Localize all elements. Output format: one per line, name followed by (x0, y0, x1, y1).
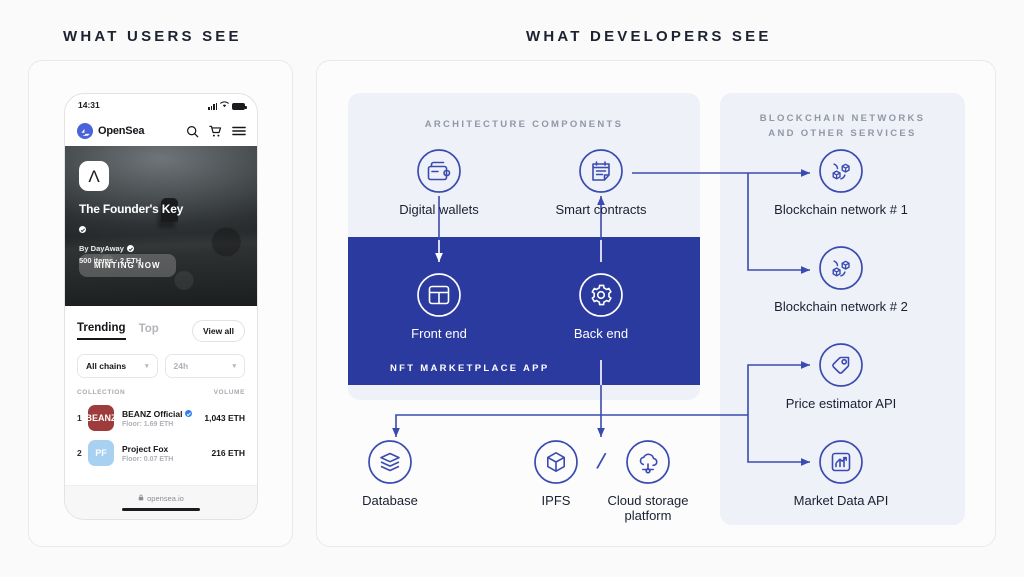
navbar-actions (186, 125, 246, 138)
cube-icon (533, 439, 579, 485)
chain-filter-select[interactable]: All chains ▾ (77, 354, 158, 378)
phone-footer: opensea.io (65, 485, 257, 519)
tabs-row: Trending Top View all (77, 306, 245, 342)
blockchain-panel-title: BLOCKCHAIN NETWORKS AND OTHER SERVICES (720, 111, 965, 141)
node-digital-wallets[interactable]: Digital wallets (374, 148, 504, 217)
verified-check-icon (79, 220, 183, 238)
section-title-developers: WHAT DEVELOPERS SEE (526, 28, 772, 45)
hero-banner: Λ The Founder's Key By DayAway 500 items… (65, 146, 257, 306)
node-label: Front end (411, 326, 467, 341)
minting-now-button[interactable]: MINTING NOW (79, 254, 176, 277)
nft-marketplace-label: NFT MARKETPLACE APP (390, 363, 549, 374)
node-label: Digital wallets (399, 202, 478, 217)
tab-trending[interactable]: Trending (77, 322, 126, 340)
collection-volume: 216 ETH (211, 448, 245, 458)
node-label: Price estimator API (786, 396, 897, 411)
node-front-end[interactable]: Front end (374, 272, 504, 341)
node-smart-contracts[interactable]: Smart contracts (536, 148, 666, 217)
view-all-button[interactable]: View all (192, 320, 245, 342)
home-indicator (122, 508, 200, 511)
opensea-content: Trending Top View all All chains ▾ 24h ▾… (65, 306, 257, 485)
collection-thumbnail: BEANZ (88, 405, 114, 431)
node-label: Blockchain network # 2 (774, 299, 908, 314)
blockchain-network-icon (818, 245, 864, 291)
price-tag-icon (818, 342, 864, 388)
node-label: IPFS (542, 493, 571, 508)
url-text: opensea.io (147, 494, 184, 503)
hero-creator: By DayAway (79, 244, 183, 253)
database-stack-icon (367, 439, 413, 485)
node-blockchain-network-2[interactable]: Blockchain network # 2 (746, 245, 936, 314)
node-label: Back end (574, 326, 628, 341)
collection-name: Project Fox (122, 444, 168, 454)
status-icons (208, 101, 245, 110)
node-label: Market Data API (794, 493, 889, 508)
node-label: Smart contracts (555, 202, 646, 217)
row-info: BEANZ Official Floor: 1.69 ETH (122, 409, 192, 428)
time-filter-value: 24h (174, 361, 189, 371)
table-row[interactable]: 2 PF Project Fox Floor: 0.07 ETH 216 ETH (77, 440, 245, 466)
table-header: COLLECTION VOLUME (77, 389, 245, 396)
chevron-down-icon: ▾ (145, 362, 149, 370)
column-collection: COLLECTION (77, 389, 125, 396)
signal-bars-icon (208, 103, 217, 110)
hamburger-menu-icon[interactable] (232, 125, 246, 137)
phone-status-bar: 14:31 (65, 94, 257, 116)
hero-creator-label: By DayAway (79, 244, 124, 253)
opensea-navbar: OpenSea (65, 116, 257, 146)
node-label: Blockchain network # 1 (774, 202, 908, 217)
contract-document-icon (578, 148, 624, 194)
diagram-page: WHAT USERS SEE WHAT DEVELOPERS SEE 14:31… (0, 0, 1024, 577)
collection-floor: Floor: 0.07 ETH (122, 456, 173, 463)
opensea-brand-label: OpenSea (98, 125, 144, 137)
node-blockchain-network-1[interactable]: Blockchain network # 1 (746, 148, 936, 217)
collection-volume: 1,043 ETH (204, 413, 245, 423)
tab-top[interactable]: Top (139, 323, 159, 339)
filters-row: All chains ▾ 24h ▾ (77, 354, 245, 378)
collection-avatar: Λ (79, 161, 109, 191)
hero-title: The Founder's Key (79, 202, 183, 216)
status-time: 14:31 (78, 100, 100, 110)
address-bar: opensea.io (138, 494, 184, 503)
time-filter-select[interactable]: 24h ▾ (165, 354, 246, 378)
node-price-estimator-api[interactable]: Price estimator API (746, 342, 936, 411)
row-rank: 2 (77, 448, 88, 458)
gear-icon (578, 272, 624, 318)
wallet-icon (416, 148, 462, 194)
market-chart-icon (818, 439, 864, 485)
collection-name: BEANZ Official (122, 409, 182, 419)
node-label: Database (362, 493, 418, 508)
blockchain-network-icon (818, 148, 864, 194)
architecture-panel-title: ARCHITECTURE COMPONENTS (348, 117, 700, 132)
search-icon[interactable] (186, 125, 199, 138)
collection-floor: Floor: 1.69 ETH (122, 421, 192, 428)
chevron-down-icon: ▾ (232, 362, 236, 370)
phone-mockup: 14:31 OpenSea (64, 93, 258, 520)
wifi-icon (220, 101, 229, 110)
lock-icon (138, 494, 144, 503)
node-cloud-storage[interactable]: Cloud storage platform (583, 439, 713, 523)
row-name-wrap: Project Fox (122, 444, 173, 454)
table-row[interactable]: 1 BEANZ BEANZ Official Floor: 1.69 ETH 1… (77, 405, 245, 431)
column-volume: VOLUME (214, 389, 245, 396)
node-label: Cloud storage platform (608, 493, 689, 523)
cloud-storage-icon (625, 439, 671, 485)
cart-icon[interactable] (209, 125, 222, 138)
node-market-data-api[interactable]: Market Data API (746, 439, 936, 508)
chain-filter-value: All chains (86, 361, 126, 371)
collection-thumbnail: PF (88, 440, 114, 466)
verified-check-icon (127, 245, 134, 252)
section-title-users: WHAT USERS SEE (63, 28, 242, 45)
layout-window-icon (416, 272, 462, 318)
node-back-end[interactable]: Back end (536, 272, 666, 341)
node-ipfs[interactable]: IPFS (521, 439, 591, 508)
battery-icon (232, 103, 245, 110)
verified-badge-icon (185, 410, 192, 417)
node-database[interactable]: Database (325, 439, 455, 508)
opensea-logo-icon (77, 123, 93, 139)
row-info: Project Fox Floor: 0.07 ETH (122, 444, 173, 463)
row-name-wrap: BEANZ Official (122, 409, 192, 419)
